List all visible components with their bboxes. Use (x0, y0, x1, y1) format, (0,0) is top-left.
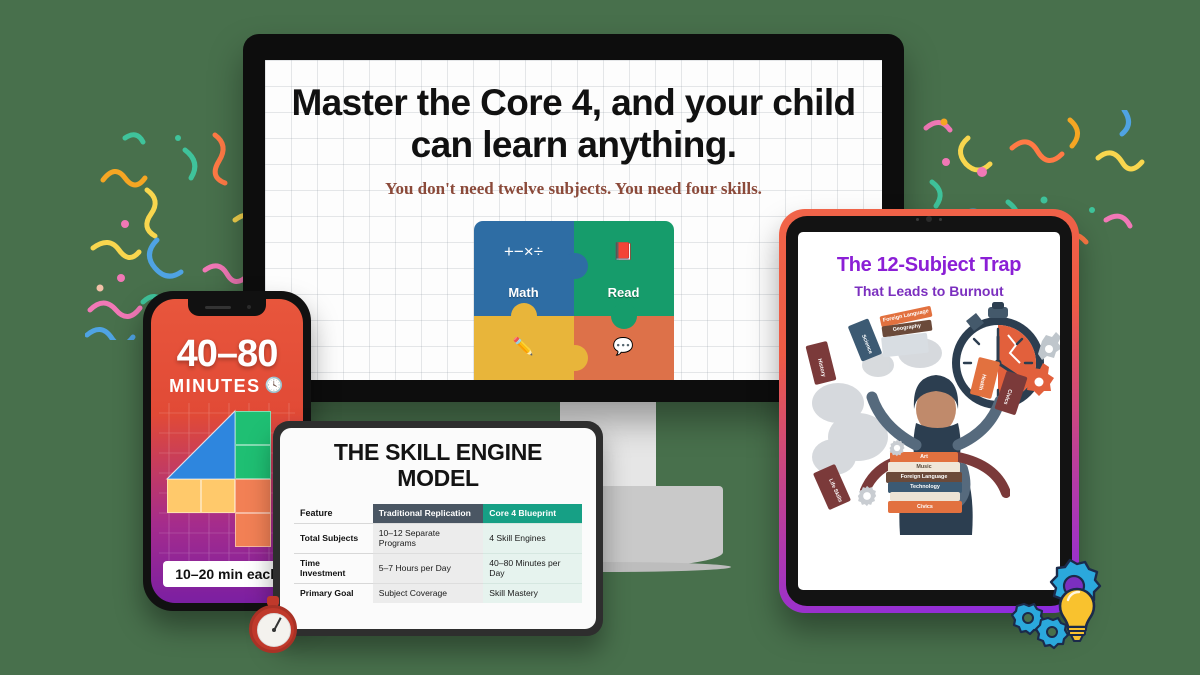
burnout-illustration: Art Music Foreign Language Technology Ci… (798, 307, 1060, 535)
table-row: Time Investment 5–7 Hours per Day 40–80 … (294, 553, 582, 583)
pencil-icon: ✏️ (474, 338, 574, 355)
four-block-orange-1 (235, 479, 271, 513)
monitor-headline-line2: can learn anything. (279, 124, 868, 166)
card-title-line2: MODEL (294, 466, 582, 492)
four-block-green-bottom (235, 445, 271, 479)
puzzle-label-read: Read (574, 285, 674, 300)
card-title-line1: THE SKILL ENGINE (294, 440, 582, 466)
cell-traditional-0: 10–12 Separate Programs (373, 523, 484, 553)
four-block-green-top (235, 411, 271, 445)
column-header-feature: Feature (294, 504, 373, 524)
stopwatch-face (257, 613, 291, 647)
four-block-yellow-1 (167, 479, 201, 513)
clock-icon: 🕓 (265, 377, 285, 394)
cell-feature-0: Total Subjects (294, 523, 373, 553)
cell-traditional-1: 5–7 Hours per Day (373, 553, 484, 583)
four-block-orange-2 (235, 513, 271, 547)
cell-traditional-2: Subject Coverage (373, 583, 484, 603)
monitor-headline: Master the Core 4, and your child can le… (265, 82, 882, 166)
puzzle-label-math: Math (474, 285, 574, 300)
phone-minutes-text: MINUTES (169, 376, 261, 396)
cell-feature-2: Primary Goal (294, 583, 373, 603)
puzzle-piece-math: +−×÷ Math (474, 221, 574, 316)
math-symbols-icon: +−×÷ (474, 243, 574, 260)
phone-camera-icon (247, 305, 251, 309)
puzzle-piece-read: 📕 Read (574, 221, 674, 316)
promo-mockup-scene: Master the Core 4, and your child can le… (0, 0, 1200, 675)
skill-engine-screen: THE SKILL ENGINE MODEL Feature Tradition… (280, 428, 596, 629)
puzzle-knob-read-speak (611, 303, 637, 329)
phone-duration-pill: 10–20 min each (163, 561, 291, 587)
cell-core4-0: 4 Skill Engines (483, 523, 582, 553)
tablet-device: The 12-Subject Trap That Leads to Burnou… (779, 209, 1079, 613)
tablet-screen: The 12-Subject Trap That Leads to Burnou… (798, 232, 1060, 590)
cell-feature-1: Time Investment (294, 553, 373, 583)
monitor-subheadline: You don't need twelve subjects. You need… (265, 179, 882, 199)
column-header-core4: Core 4 Blueprint (483, 504, 582, 524)
puzzle-knob-math-write (511, 303, 537, 329)
phone-notch (188, 299, 266, 316)
gear-icon (888, 439, 906, 457)
core4-puzzle-graphic: +−×÷ Math 📕 Read ✏️ Write 💬 Speak (474, 221, 674, 380)
gear-icon (856, 485, 878, 507)
book-spacer (890, 492, 960, 501)
book-icon: 📕 (574, 243, 674, 260)
monitor-headline-line1: Master the Core 4, and your child (279, 82, 868, 124)
tablet-subtitle: That Leads to Burnout (798, 283, 1060, 299)
table-header-row: Feature Traditional Replication Core 4 B… (294, 504, 582, 524)
tablet-bezel: The 12-Subject Trap That Leads to Burnou… (786, 216, 1072, 606)
stopwatch-icon (243, 593, 303, 653)
column-header-traditional: Traditional Replication (373, 504, 484, 524)
phone-speaker-icon (205, 306, 231, 309)
speech-bubble-icon: 💬 (574, 338, 674, 355)
skill-engine-card: THE SKILL ENGINE MODEL Feature Tradition… (273, 421, 603, 636)
tablet-camera-icon (916, 216, 942, 222)
book-civics-stack: Civics (888, 501, 962, 513)
table-row: Primary Goal Subject Coverage Skill Mast… (294, 583, 582, 603)
four-block-yellow-2 (201, 479, 235, 513)
tablet-title: The 12-Subject Trap (798, 254, 1060, 277)
lightbulb-icon (1008, 556, 1108, 652)
puzzle-knob-math-read (562, 253, 588, 279)
stopwatch-pin (272, 628, 276, 632)
stopwatch-body (249, 605, 297, 653)
table-row: Total Subjects 10–12 Separate Programs 4… (294, 523, 582, 553)
puzzle-knob-write-speak (562, 345, 588, 371)
number-four-blocks-graphic (163, 407, 291, 557)
comparison-table: Feature Traditional Replication Core 4 B… (294, 504, 582, 603)
phone-minutes-label: MINUTES🕓 (151, 376, 303, 397)
phone-minutes-range: 40–80 (151, 333, 303, 376)
cell-core4-1: 40–80 Minutes per Day (483, 553, 582, 583)
card-title: THE SKILL ENGINE MODEL (294, 440, 582, 492)
cell-core4-2: Skill Mastery (483, 583, 582, 603)
